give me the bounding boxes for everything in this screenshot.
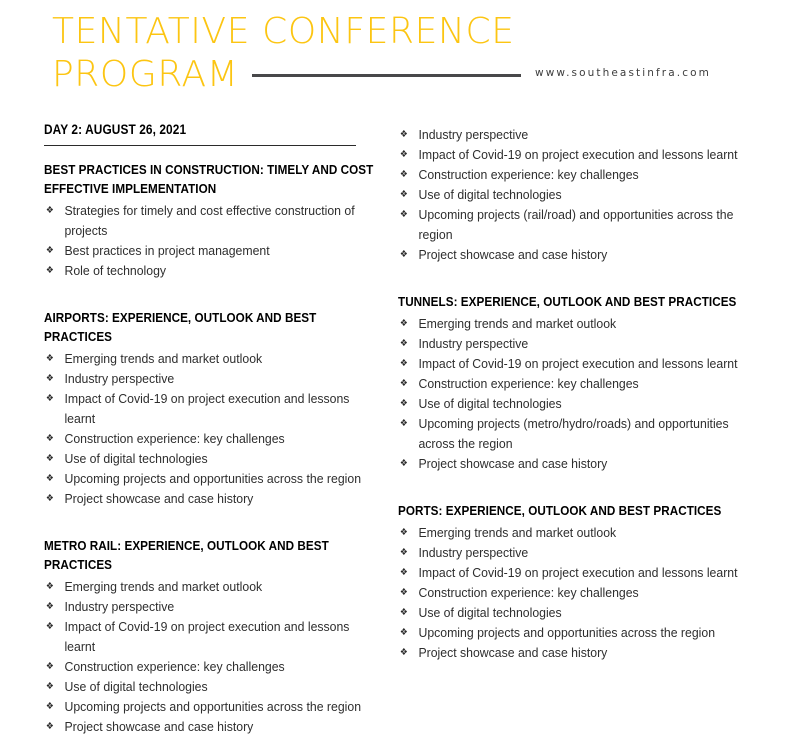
section-spacer xyxy=(44,281,384,308)
topic-item: ❖Upcoming projects (rail/road) and oppor… xyxy=(398,205,744,245)
topic-item-label: Emerging trends and market outlook xyxy=(64,579,262,594)
topic-item: ❖Industry perspective xyxy=(44,369,382,389)
section-spacer xyxy=(44,509,384,536)
diamond-bullet-icon: ❖ xyxy=(400,523,408,543)
topic-item: ❖Upcoming projects (metro/hydro/roads) a… xyxy=(398,414,744,454)
diamond-bullet-icon: ❖ xyxy=(400,454,408,474)
diamond-bullet-icon: ❖ xyxy=(400,543,408,563)
topic-item: ❖Construction experience: key challenges xyxy=(44,429,382,449)
topic-item: ❖Upcoming projects and opportunities acr… xyxy=(398,623,744,643)
section-heading: AIRPORTS: EXPERIENCE, OUTLOOK AND BEST P… xyxy=(44,308,384,346)
topic-list: ❖Emerging trends and market outlook❖Indu… xyxy=(398,314,746,474)
diamond-bullet-icon: ❖ xyxy=(400,583,408,603)
topic-item: ❖Project showcase and case history xyxy=(44,489,382,509)
page-title-line-1: TENTATIVE CONFERENCE xyxy=(52,10,552,53)
program-section: AIRPORTS: EXPERIENCE, OUTLOOK AND BEST P… xyxy=(44,308,384,509)
topic-list: ❖Emerging trends and market outlook❖Indu… xyxy=(44,349,384,509)
topic-item-label: Project showcase and case history xyxy=(64,719,253,734)
topic-item-label: Industry perspective xyxy=(418,127,528,142)
diamond-bullet-icon: ❖ xyxy=(46,597,54,617)
topic-item-label: Construction experience: key challenges xyxy=(418,585,638,600)
program-section: TUNNELS: EXPERIENCE, OUTLOOK AND BEST PR… xyxy=(398,292,746,474)
topic-item: ❖Industry perspective xyxy=(398,334,744,354)
diamond-bullet-icon: ❖ xyxy=(46,349,54,369)
section-heading: TUNNELS: EXPERIENCE, OUTLOOK AND BEST PR… xyxy=(398,292,746,311)
diamond-bullet-icon: ❖ xyxy=(46,261,54,281)
topic-item-label: Role of technology xyxy=(64,263,166,278)
diamond-bullet-icon: ❖ xyxy=(400,354,408,374)
diamond-bullet-icon: ❖ xyxy=(46,389,54,409)
topic-list: ❖Emerging trends and market outlook❖Indu… xyxy=(398,523,746,663)
diamond-bullet-icon: ❖ xyxy=(400,165,408,185)
topic-item-label: Upcoming projects (rail/road) and opport… xyxy=(418,207,733,242)
topic-item: ❖Upcoming projects and opportunities acr… xyxy=(44,697,382,717)
diamond-bullet-icon: ❖ xyxy=(46,469,54,489)
topic-item: ❖Construction experience: key challenges xyxy=(398,583,744,603)
diamond-bullet-icon: ❖ xyxy=(400,125,408,145)
program-section: ❖Industry perspective❖Impact of Covid-19… xyxy=(398,125,746,265)
topic-item: ❖Emerging trends and market outlook xyxy=(398,314,744,334)
section-spacer xyxy=(398,265,746,292)
diamond-bullet-icon: ❖ xyxy=(46,369,54,389)
program-section: BEST PRACTICES IN CONSTRUCTION: TIMELY A… xyxy=(44,160,384,281)
topic-item-label: Emerging trends and market outlook xyxy=(418,316,616,331)
diamond-bullet-icon: ❖ xyxy=(400,205,408,225)
topic-item: ❖Project showcase and case history xyxy=(398,643,744,663)
topic-item: ❖Impact of Covid-19 on project execution… xyxy=(398,563,744,583)
topic-item: ❖Impact of Covid-19 on project execution… xyxy=(44,389,382,429)
diamond-bullet-icon: ❖ xyxy=(46,697,54,717)
topic-item-label: Use of digital technologies xyxy=(64,679,207,694)
section-heading: PORTS: EXPERIENCE, OUTLOOK AND BEST PRAC… xyxy=(398,501,746,520)
topic-item: ❖Impact of Covid-19 on project execution… xyxy=(44,617,382,657)
topic-list: ❖Strategies for timely and cost effectiv… xyxy=(44,201,384,281)
topic-item-label: Upcoming projects and opportunities acro… xyxy=(64,471,361,486)
topic-item-label: Upcoming projects and opportunities acro… xyxy=(64,699,361,714)
section-heading: METRO RAIL: EXPERIENCE, OUTLOOK AND BEST… xyxy=(44,536,384,574)
topic-item-label: Upcoming projects and opportunities acro… xyxy=(418,625,715,640)
diamond-bullet-icon: ❖ xyxy=(46,577,54,597)
topic-list: ❖Emerging trends and market outlook❖Indu… xyxy=(44,577,384,737)
header-divider xyxy=(252,74,521,77)
topic-item-label: Industry perspective xyxy=(64,599,174,614)
topic-item-label: Industry perspective xyxy=(418,336,528,351)
topic-item-label: Project showcase and case history xyxy=(418,247,607,262)
diamond-bullet-icon: ❖ xyxy=(46,657,54,677)
program-section: PORTS: EXPERIENCE, OUTLOOK AND BEST PRAC… xyxy=(398,501,746,663)
left-column: BEST PRACTICES IN CONSTRUCTION: TIMELY A… xyxy=(44,160,384,737)
topic-item-label: Impact of Covid-19 on project execution … xyxy=(64,619,349,654)
topic-list: ❖Industry perspective❖Impact of Covid-19… xyxy=(398,125,746,265)
diamond-bullet-icon: ❖ xyxy=(46,617,54,637)
website-url: www.southeastinfra.com xyxy=(535,67,711,79)
diamond-bullet-icon: ❖ xyxy=(400,185,408,205)
topic-item: ❖Project showcase and case history xyxy=(44,717,382,737)
topic-item: ❖Construction experience: key challenges xyxy=(398,165,744,185)
topic-item-label: Emerging trends and market outlook xyxy=(418,525,616,540)
topic-item-label: Construction experience: key challenges xyxy=(64,431,284,446)
topic-item: ❖Use of digital technologies xyxy=(44,449,382,469)
topic-item-label: Impact of Covid-19 on project execution … xyxy=(64,391,349,426)
right-column: ❖Industry perspective❖Impact of Covid-19… xyxy=(398,160,746,663)
diamond-bullet-icon: ❖ xyxy=(400,314,408,334)
topic-item-label: Use of digital technologies xyxy=(418,605,561,620)
diamond-bullet-icon: ❖ xyxy=(46,429,54,449)
topic-item: ❖Use of digital technologies xyxy=(398,394,744,414)
diamond-bullet-icon: ❖ xyxy=(46,489,54,509)
topic-item: ❖Use of digital technologies xyxy=(44,677,382,697)
topic-item: ❖Best practices in project management xyxy=(44,241,382,261)
topic-item-label: Project showcase and case history xyxy=(64,491,253,506)
topic-item: ❖Industry perspective xyxy=(398,125,744,145)
topic-item-label: Construction experience: key challenges xyxy=(418,376,638,391)
diamond-bullet-icon: ❖ xyxy=(400,245,408,265)
diamond-bullet-icon: ❖ xyxy=(400,563,408,583)
diamond-bullet-icon: ❖ xyxy=(46,717,54,737)
topic-item: ❖Use of digital technologies xyxy=(398,603,744,623)
topic-item: ❖Impact of Covid-19 on project execution… xyxy=(398,145,744,165)
program-section: METRO RAIL: EXPERIENCE, OUTLOOK AND BEST… xyxy=(44,536,384,737)
topic-item-label: Impact of Covid-19 on project execution … xyxy=(418,565,737,580)
topic-item-label: Industry perspective xyxy=(418,545,528,560)
topic-item: ❖Emerging trends and market outlook xyxy=(44,577,382,597)
topic-item-label: Impact of Covid-19 on project execution … xyxy=(418,147,737,162)
topic-item-label: Impact of Covid-19 on project execution … xyxy=(418,356,737,371)
topic-item-label: Project showcase and case history xyxy=(418,456,607,471)
topic-item-label: Industry perspective xyxy=(64,371,174,386)
day-label: DAY 2: AUGUST 26, 2021 xyxy=(44,122,319,137)
document-header: TENTATIVE CONFERENCE PROGRAM www.southea… xyxy=(0,0,786,104)
topic-item-label: Project showcase and case history xyxy=(418,645,607,660)
section-heading: BEST PRACTICES IN CONSTRUCTION: TIMELY A… xyxy=(44,160,384,198)
topic-item-label: Use of digital technologies xyxy=(418,187,561,202)
topic-item: ❖Construction experience: key challenges xyxy=(44,657,382,677)
topic-item: ❖Use of digital technologies xyxy=(398,185,744,205)
topic-item-label: Construction experience: key challenges xyxy=(418,167,638,182)
topic-item: ❖Construction experience: key challenges xyxy=(398,374,744,394)
topic-item-label: Emerging trends and market outlook xyxy=(64,351,262,366)
topic-item-label: Use of digital technologies xyxy=(418,396,561,411)
topic-item-label: Upcoming projects (metro/hydro/roads) an… xyxy=(418,416,728,451)
topic-item: ❖Industry perspective xyxy=(44,597,382,617)
topic-item: ❖Upcoming projects and opportunities acr… xyxy=(44,469,382,489)
diamond-bullet-icon: ❖ xyxy=(400,414,408,434)
topic-item-label: Best practices in project management xyxy=(64,243,269,258)
diamond-bullet-icon: ❖ xyxy=(46,677,54,697)
section-spacer xyxy=(398,474,746,501)
topic-item: ❖Emerging trends and market outlook xyxy=(398,523,744,543)
topic-item-label: Use of digital technologies xyxy=(64,451,207,466)
diamond-bullet-icon: ❖ xyxy=(400,603,408,623)
diamond-bullet-icon: ❖ xyxy=(46,449,54,469)
diamond-bullet-icon: ❖ xyxy=(46,241,54,261)
topic-item: ❖Emerging trends and market outlook xyxy=(44,349,382,369)
day-divider xyxy=(44,145,356,146)
topic-item: ❖Project showcase and case history xyxy=(398,454,744,474)
diamond-bullet-icon: ❖ xyxy=(46,201,54,221)
page-title: TENTATIVE CONFERENCE PROGRAM xyxy=(52,10,552,96)
diamond-bullet-icon: ❖ xyxy=(400,334,408,354)
diamond-bullet-icon: ❖ xyxy=(400,643,408,663)
topic-item: ❖Industry perspective xyxy=(398,543,744,563)
diamond-bullet-icon: ❖ xyxy=(400,374,408,394)
day-banner: DAY 2: AUGUST 26, 2021 xyxy=(44,122,356,146)
topic-item: ❖Role of technology xyxy=(44,261,382,281)
diamond-bullet-icon: ❖ xyxy=(400,145,408,165)
topic-item: ❖Impact of Covid-19 on project execution… xyxy=(398,354,744,374)
diamond-bullet-icon: ❖ xyxy=(400,394,408,414)
topic-item-label: Strategies for timely and cost effective… xyxy=(64,203,354,238)
diamond-bullet-icon: ❖ xyxy=(400,623,408,643)
topic-item: ❖Strategies for timely and cost effectiv… xyxy=(44,201,382,241)
topic-item-label: Construction experience: key challenges xyxy=(64,659,284,674)
topic-item: ❖Project showcase and case history xyxy=(398,245,744,265)
